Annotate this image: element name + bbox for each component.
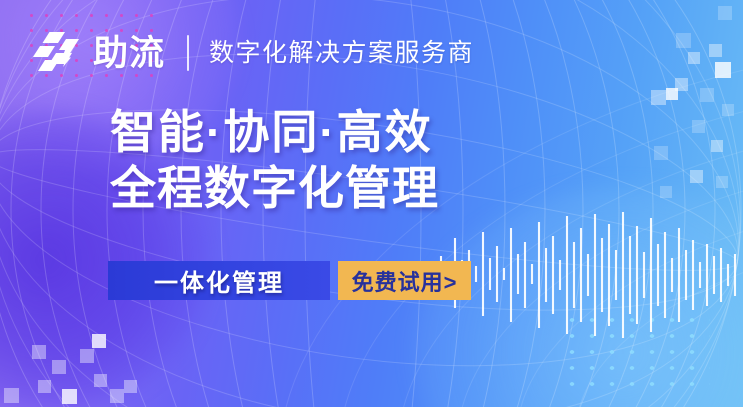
promo-banner: 助流 数字化解决方案服务商 智能·协同·高效 全程数字化管理 一体化管理 免费试… (0, 0, 743, 407)
headline: 智能·协同·高效 全程数字化管理 (110, 104, 439, 216)
headline-line-1: 智能·协同·高效 (110, 104, 439, 160)
decor-square (709, 44, 722, 57)
decor-square (660, 186, 672, 198)
decor-square (716, 176, 728, 188)
decor-square (692, 120, 705, 133)
decor-square (52, 360, 66, 374)
decor-square (38, 380, 51, 393)
decor-square (711, 140, 723, 152)
decor-square (4, 388, 19, 403)
decor-square (651, 90, 666, 105)
brand-name: 助流 (93, 36, 165, 71)
decor-square (722, 104, 734, 116)
audio-wave-decoration (430, 198, 743, 358)
decor-square (666, 88, 678, 100)
decor-square (700, 88, 714, 102)
decor-square (715, 62, 731, 78)
decor-square (92, 334, 106, 348)
brand-tagline: 数字化解决方案服务商 (209, 41, 474, 66)
decor-square (676, 33, 691, 48)
decor-square (62, 389, 77, 404)
headline-line-2: 全程数字化管理 (110, 160, 439, 216)
secondary-arcs-decoration (233, 40, 743, 407)
zhuliu-lightning-logo-icon (32, 30, 84, 76)
cta-row: 一体化管理 免费试用> (108, 261, 471, 300)
decor-square (80, 349, 94, 363)
decor-square (110, 389, 124, 403)
header-divider (187, 35, 189, 71)
integrated-management-button[interactable]: 一体化管理 (108, 261, 330, 300)
decor-square (718, 6, 732, 20)
cyan-dot-grid (562, 312, 710, 390)
decor-square (675, 78, 688, 91)
decor-square (688, 52, 700, 64)
decor-square (94, 374, 107, 387)
decor-square (654, 146, 668, 160)
free-trial-button[interactable]: 免费试用> (338, 261, 471, 300)
decor-square (32, 345, 46, 359)
decor-square (690, 170, 703, 183)
banner-header: 助流 数字化解决方案服务商 (32, 30, 474, 76)
decor-square (124, 380, 137, 393)
